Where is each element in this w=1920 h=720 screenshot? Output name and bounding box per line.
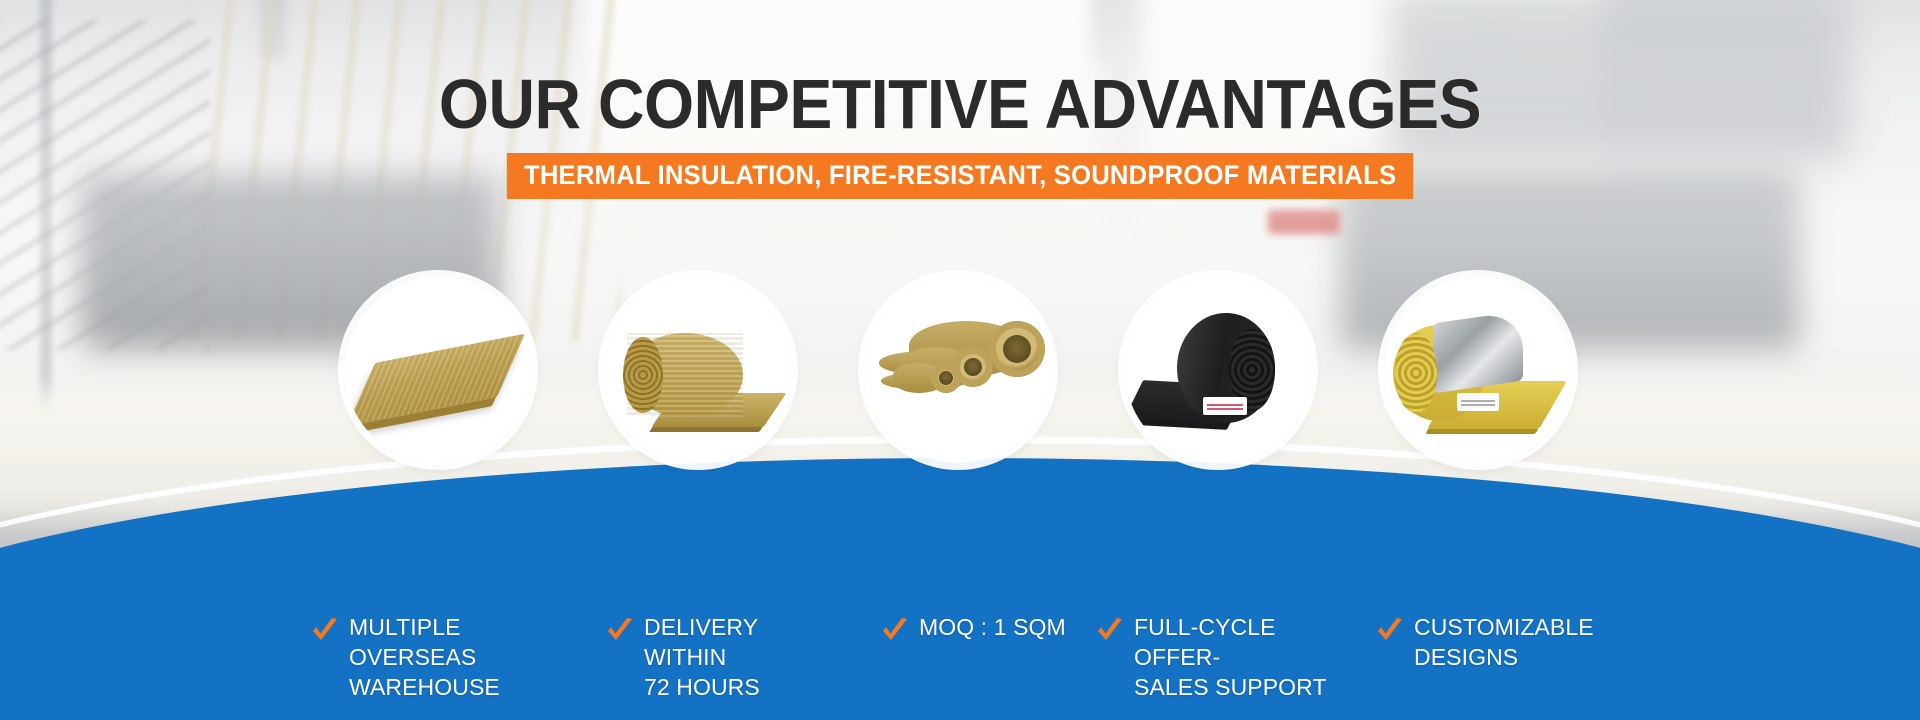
product-circle-glass-wool-foil-roll[interactable] xyxy=(1385,277,1571,463)
check-icon xyxy=(1375,616,1405,646)
feature-label: FULL-CYCLE OFFER- SALES SUPPORT xyxy=(1134,612,1345,702)
feature-item-multiple-overseas-warehouse[interactable]: MULTIPLE OVERSEAS WAREHOUSE xyxy=(310,612,560,702)
product-image-rock-wool-pipe-sections xyxy=(865,277,1051,463)
advantages-banner: OUR COMPETITIVE ADVANTAGES THERMAL INSUL… xyxy=(0,0,1920,720)
check-icon xyxy=(605,616,635,646)
product-image-glass-wool-foil-roll xyxy=(1385,277,1571,463)
feature-list: MULTIPLE OVERSEAS WAREHOUSE DELIVERY WIT… xyxy=(0,612,1920,712)
check-icon xyxy=(310,616,340,646)
product-image-rock-wool-board xyxy=(345,277,531,463)
product-circle-rubber-foam-roll[interactable] xyxy=(1125,277,1311,463)
feature-label: DELIVERY WITHIN 72 HOURS xyxy=(644,612,835,702)
product-image-rock-wool-roll xyxy=(605,277,791,463)
feature-label: MULTIPLE OVERSEAS WAREHOUSE xyxy=(349,612,560,702)
product-image-rubber-foam-roll xyxy=(1125,277,1311,463)
check-icon xyxy=(1095,616,1125,646)
feature-item-customizable-designs[interactable]: CUSTOMIZABLE DESIGNS xyxy=(1375,612,1605,672)
product-circle-rock-wool-board[interactable] xyxy=(345,277,531,463)
product-circle-rock-wool-roll[interactable] xyxy=(605,277,791,463)
product-circle-rock-wool-pipe-sections[interactable] xyxy=(865,277,1051,463)
feature-item-delivery-within-72-hours[interactable]: DELIVERY WITHIN 72 HOURS xyxy=(605,612,835,702)
feature-item-moq[interactable]: MOQ : 1 SQM xyxy=(880,612,1080,646)
feature-item-full-cycle-support[interactable]: FULL-CYCLE OFFER- SALES SUPPORT xyxy=(1095,612,1345,702)
check-icon xyxy=(880,616,910,646)
feature-label: CUSTOMIZABLE DESIGNS xyxy=(1414,612,1594,672)
feature-label: MOQ : 1 SQM xyxy=(919,612,1066,642)
